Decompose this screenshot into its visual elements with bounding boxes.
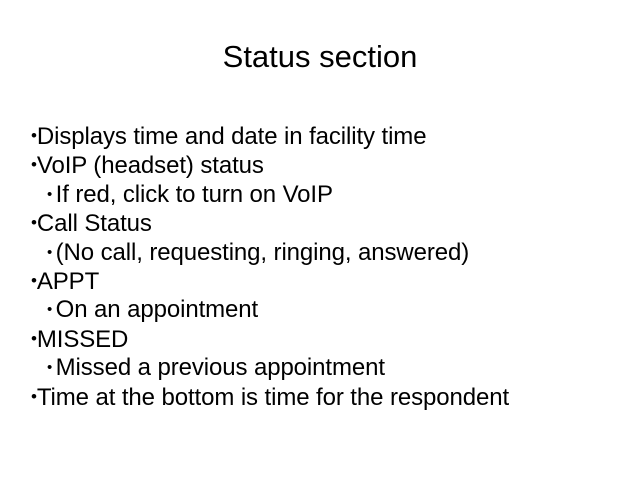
bullet-item-label: Time at the bottom is time for the respo… — [37, 384, 509, 411]
bullet-item-label: VoIP (headset) status — [37, 152, 264, 179]
bullet-item-level-1: •MISSED — [28, 325, 628, 354]
bullet-item-level-1: •APPT — [28, 267, 628, 296]
bullet-item-label: APPT — [37, 268, 99, 295]
bullet-item-label: MISSED — [37, 326, 128, 353]
slide-canvas: Status section •Displays time and date i… — [0, 0, 640, 480]
bullet-point-icon: • — [47, 354, 52, 382]
bullet-item-label: On an appointment — [56, 296, 258, 323]
page-title: Status section — [0, 38, 640, 76]
bullet-item-label: (No call, requesting, ringing, answered) — [56, 239, 470, 266]
bullet-point-icon: • — [47, 181, 52, 209]
bullet-list: •Displays time and date in facility time… — [28, 122, 628, 412]
bullet-item-level-2: •(No call, requesting, ringing, answered… — [28, 239, 628, 267]
bullet-item-label: Displays time and date in facility time — [37, 123, 427, 150]
bullet-item-level-2: •On an appointment — [28, 296, 628, 324]
bullet-item-label: Call Status — [37, 210, 152, 237]
bullet-item-level-1: •Call Status — [28, 209, 628, 238]
bullet-item-level-2: •If red, click to turn on VoIP — [28, 181, 628, 209]
bullet-item-label: Missed a previous appointment — [56, 354, 385, 381]
bullet-point-icon: • — [47, 239, 52, 267]
bullet-item-level-2: •Missed a previous appointment — [28, 354, 628, 382]
bullet-item-level-1: •Displays time and date in facility time — [28, 122, 628, 151]
bullet-item-level-1: •VoIP (headset) status — [28, 151, 628, 180]
bullet-point-icon: • — [47, 296, 52, 324]
bullet-item-level-1: •Time at the bottom is time for the resp… — [28, 383, 628, 412]
bullet-item-label: If red, click to turn on VoIP — [56, 181, 333, 208]
